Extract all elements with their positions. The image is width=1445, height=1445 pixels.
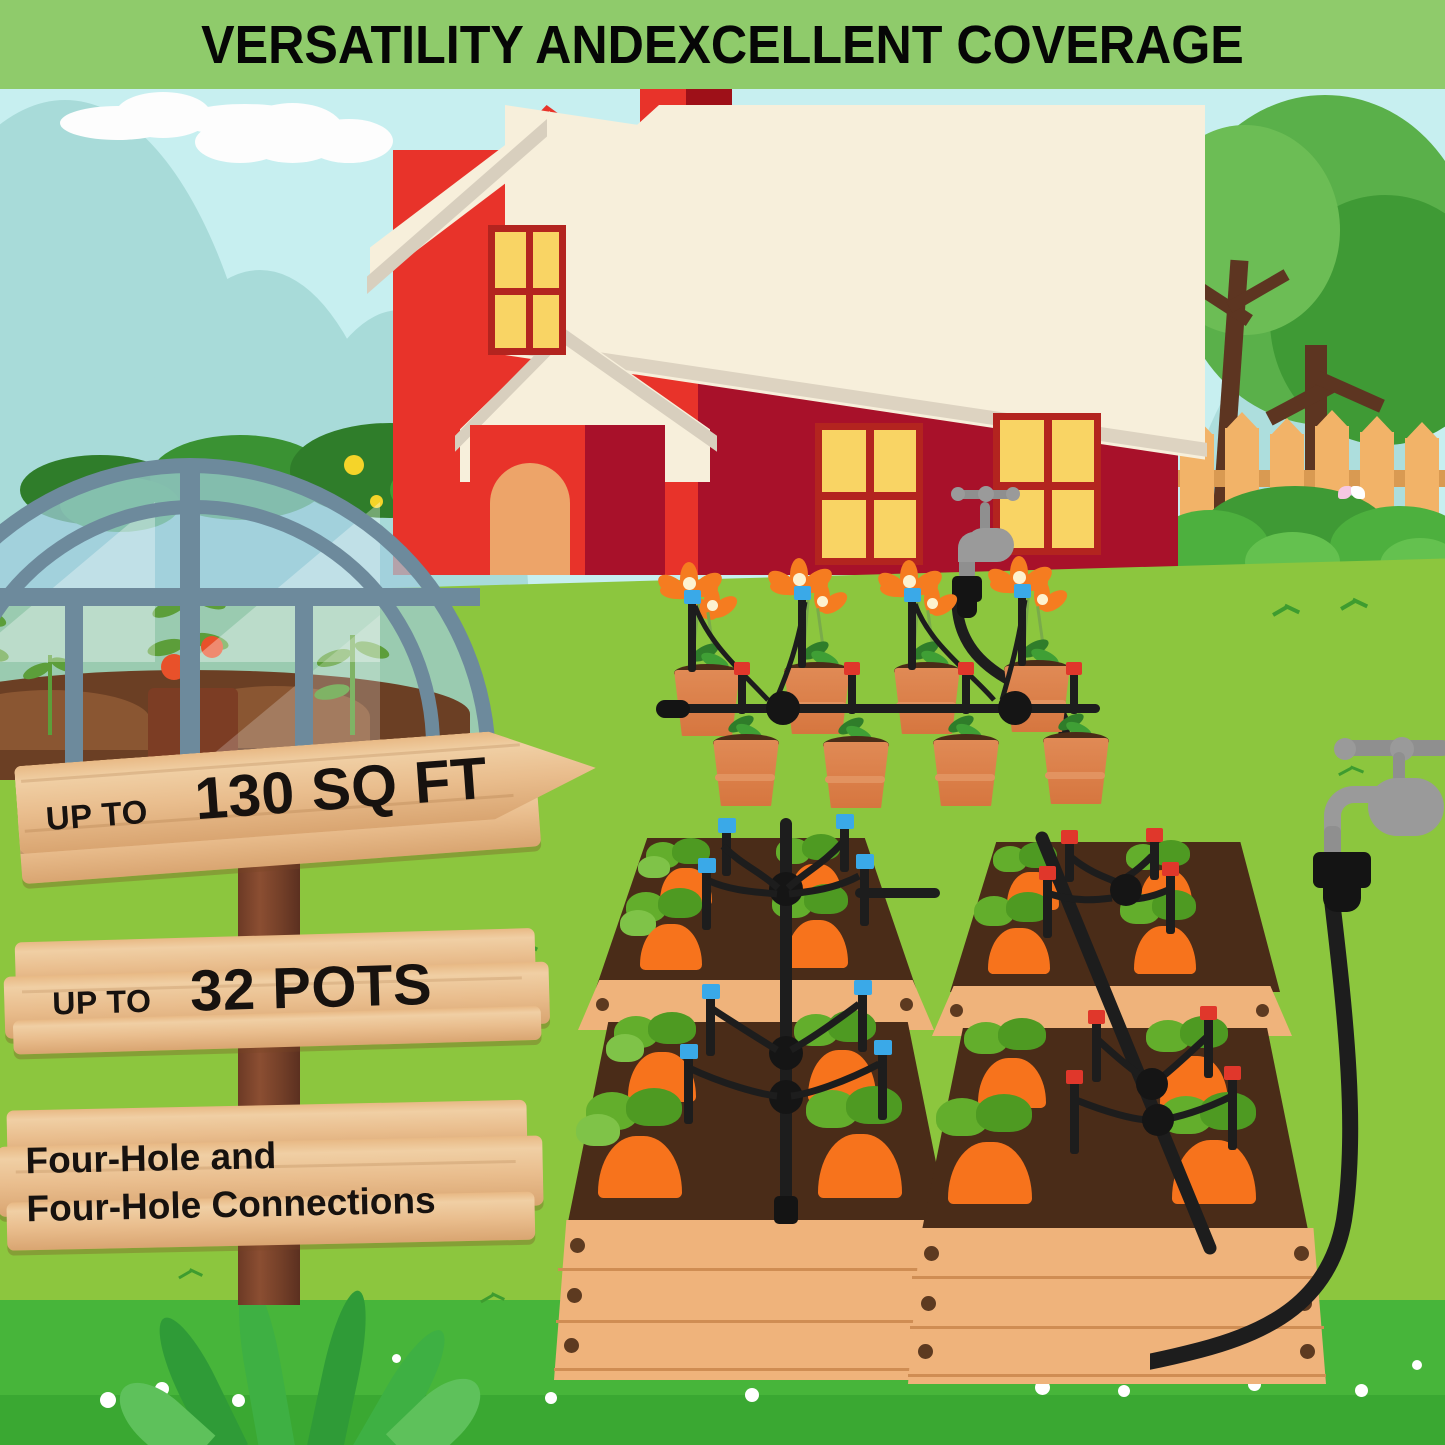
garden-faucet xyxy=(1290,730,1445,940)
house-window-left xyxy=(815,423,923,565)
grass-tuft xyxy=(1338,766,1368,780)
nozzle-cap-red xyxy=(958,662,974,675)
tube-end-cap xyxy=(656,700,690,718)
tube-end-cap xyxy=(774,1196,798,1224)
sign-pots-value: 32 POTS xyxy=(189,951,433,1025)
sign-pots-prefix: UP TO xyxy=(52,983,152,1023)
sign-connections-line1: Four-Hole and xyxy=(25,1135,277,1182)
sign-connections[interactable]: Four-Hole and Four-Hole Connections xyxy=(0,1099,560,1261)
sign-pots[interactable]: UP TO 32 POTS xyxy=(2,919,565,1055)
nozzle-cap-blue xyxy=(1014,584,1031,598)
attic-window xyxy=(488,225,566,355)
nozzle-cap-red xyxy=(1146,828,1163,842)
nozzle-cap-red xyxy=(734,662,750,675)
nozzle-cap-red xyxy=(1162,862,1179,876)
grass-tuft xyxy=(1272,604,1298,618)
main-drip-tube xyxy=(650,700,1100,716)
four-hole-connector[interactable] xyxy=(998,691,1032,725)
greenhouse xyxy=(0,440,530,770)
nozzle-cap-red xyxy=(844,662,860,675)
four-hole-connector[interactable] xyxy=(1110,874,1142,906)
grass-tuft xyxy=(1340,598,1366,612)
grass-tuft xyxy=(178,1268,204,1282)
garden-hose xyxy=(1150,900,1410,1420)
title-banner: VERSATILITY ANDEXCELLENT COVERAGE xyxy=(0,0,1445,89)
nozzle-cap-red xyxy=(1039,866,1056,880)
sign-connections-line2: Four-Hole Connections xyxy=(26,1180,436,1231)
grass-clump xyxy=(150,1255,480,1445)
sign-coverage-prefix: UP TO xyxy=(45,793,150,838)
nozzle-cap-red xyxy=(1088,1010,1105,1024)
grass-tuft xyxy=(480,1292,506,1306)
left-bed-manifold xyxy=(728,818,848,1228)
page-title: VERSATILITY ANDEXCELLENT COVERAGE xyxy=(51,0,1395,89)
butterfly-icon xyxy=(1338,484,1366,504)
nozzle-cap-blue xyxy=(794,586,811,600)
signpost: UP TO 130 SQ FT UP TO 32 POTS Four-Hole … xyxy=(12,745,612,1265)
nozzle-cap-red xyxy=(1061,830,1078,844)
four-hole-connector[interactable] xyxy=(766,691,800,725)
nozzle-cap-red xyxy=(1066,1070,1083,1084)
sign-coverage[interactable]: UP TO 130 SQ FT xyxy=(14,724,602,896)
nozzle-cap-red xyxy=(1066,662,1082,675)
product-infographic: UP TO 130 SQ FT UP TO 32 POTS Four-Hole … xyxy=(0,0,1445,1445)
